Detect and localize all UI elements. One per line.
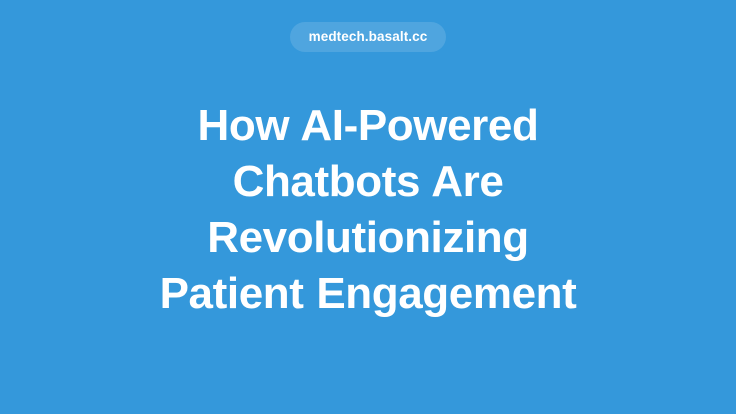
page-title-line-1: How AI-Powered — [160, 98, 577, 154]
page-title: How AI-Powered Chatbots Are Revolutioniz… — [132, 98, 605, 322]
headline-wrap: How AI-Powered Chatbots Are Revolutioniz… — [0, 98, 736, 322]
badge-row: medtech.basalt.cc — [0, 22, 736, 52]
page-title-line-2: Chatbots Are — [160, 154, 577, 210]
social-share-card: medtech.basalt.cc How AI-Powered Chatbot… — [0, 0, 736, 414]
site-domain-badge[interactable]: medtech.basalt.cc — [290, 22, 447, 52]
page-title-line-4: Patient Engagement — [160, 266, 577, 322]
page-title-line-3: Revolutionizing — [160, 210, 577, 266]
